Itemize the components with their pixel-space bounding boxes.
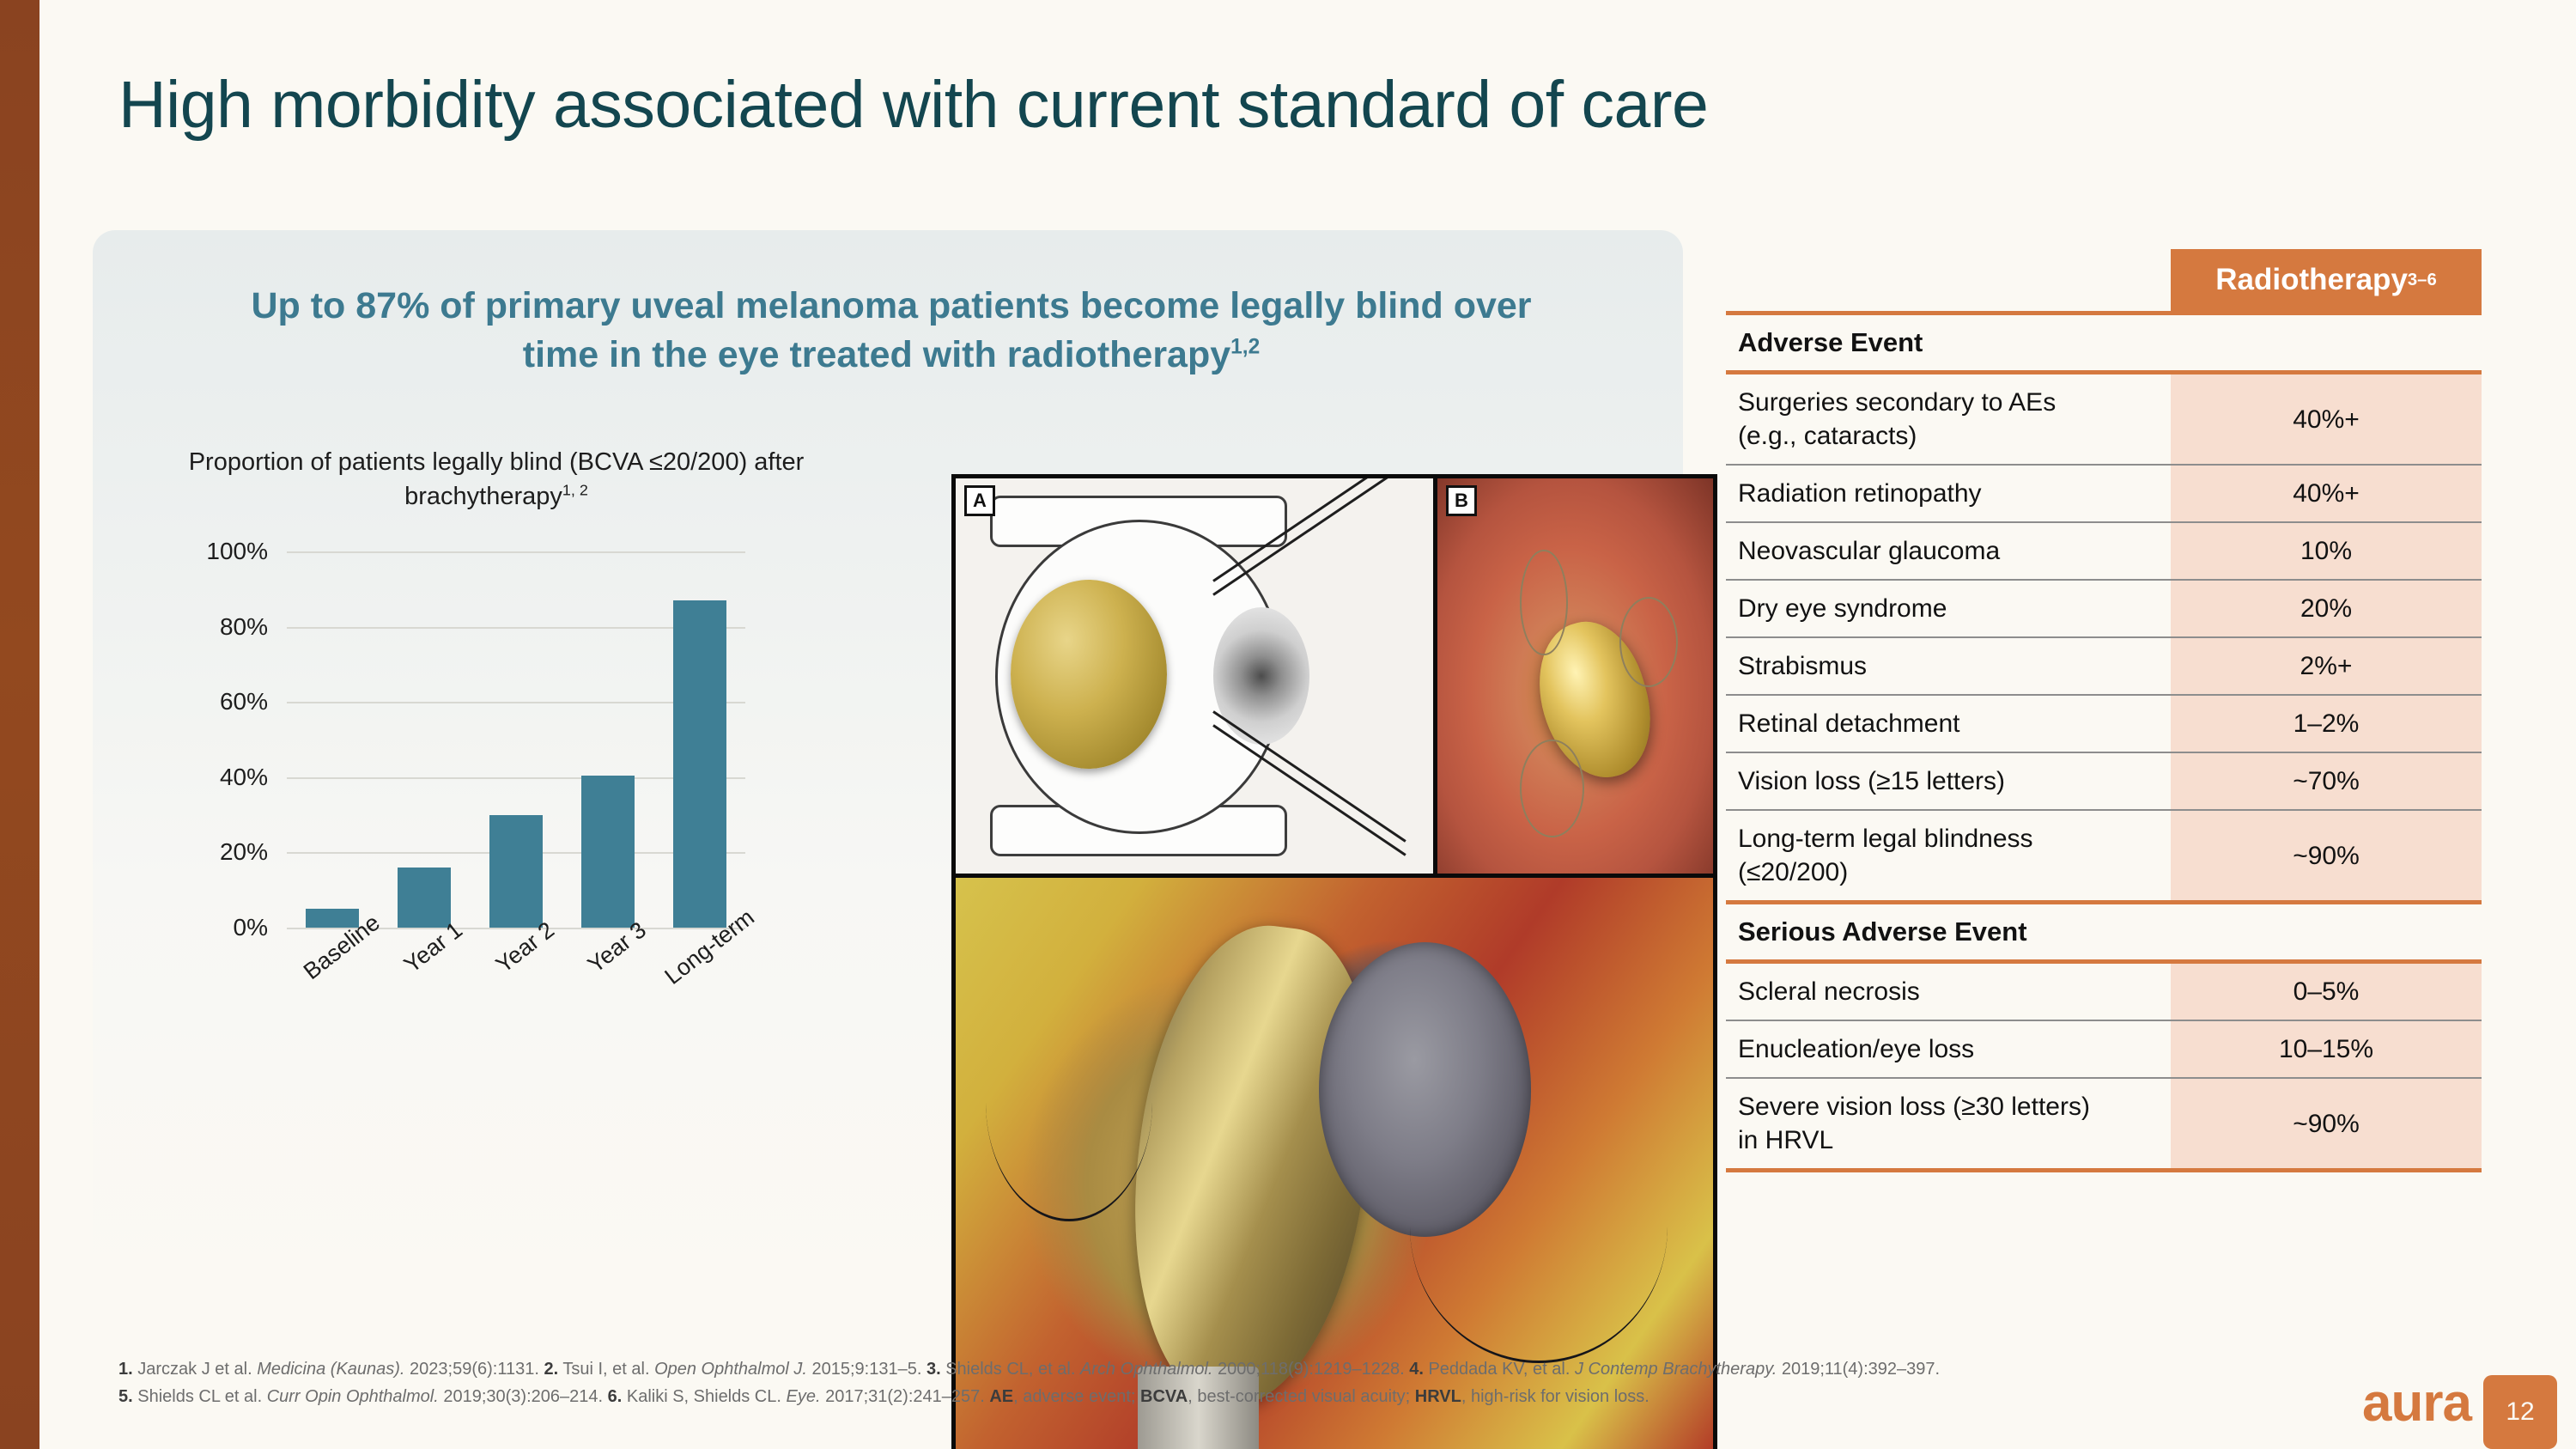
table-cell-event: Surgeries secondary to AEs(e.g., catarac… <box>1726 373 2171 466</box>
chart-ytick-label: 20% <box>220 838 268 866</box>
chart-title-superscript: 1, 2 <box>562 481 588 498</box>
slide-canvas: High morbidity associated with current s… <box>0 0 2576 1449</box>
page-title: High morbidity associated with current s… <box>118 67 2179 143</box>
table-row: Radiation retinopathy40%+ <box>1726 465 2482 522</box>
table-row: Long-term legal blindness(≤20/200)~90% <box>1726 810 2482 903</box>
figure-top-row: A B <box>956 478 1713 874</box>
table-cell-value: 40%+ <box>2171 465 2482 522</box>
footnote-ref-number: 4. <box>1409 1360 1424 1379</box>
footnote-journal: Curr Opin Ophthalmol. <box>267 1387 439 1406</box>
table-row: Scleral necrosis0–5% <box>1726 962 2482 1021</box>
suture-icon <box>1520 550 1567 656</box>
table-cell-event: Strabismus <box>1726 637 2171 695</box>
suture-icon <box>1619 597 1678 687</box>
footnote-journal: Medicina (Kaunas). <box>257 1360 404 1379</box>
footnote-line-2: 5. Shields CL et al. Curr Opin Ophthalmo… <box>118 1383 2196 1410</box>
table-cell-event: Retinal detachment <box>1726 695 2171 752</box>
table-cell-value: ~90% <box>2171 1078 2482 1171</box>
table-row: Surgeries secondary to AEs(e.g., catarac… <box>1726 373 2482 466</box>
footnotes: 1. Jarczak J et al. Medicina (Kaunas). 2… <box>118 1355 2196 1411</box>
surgical-figure: A B <box>951 474 1717 1449</box>
table-row: Strabismus2%+ <box>1726 637 2482 695</box>
table-row: Vision loss (≥15 letters)~70% <box>1726 752 2482 810</box>
table-cell-value: 10–15% <box>2171 1020 2482 1078</box>
table-cell-value: 20% <box>2171 580 2482 637</box>
footnote-ref-number: 6. <box>608 1387 623 1406</box>
table-cell-event: Vision loss (≥15 letters) <box>1726 752 2171 810</box>
table-header-label: Radiotherapy <box>2215 263 2408 297</box>
footnote-line-1: 1. Jarczak J et al. Medicina (Kaunas). 2… <box>118 1355 2196 1383</box>
cornea-illustration <box>1213 607 1309 745</box>
table-cell-value: 10% <box>2171 522 2482 580</box>
chart-bar <box>581 776 635 928</box>
table-section-title: Serious Adverse Event <box>1726 903 2171 962</box>
footnote-ref-number: 3. <box>927 1360 941 1379</box>
panel-b-surgical-photo: B <box>1437 478 1713 874</box>
chart-ytick-label: 60% <box>220 688 268 715</box>
suture-thread-icon <box>986 983 1152 1221</box>
footnote-ref-number: HRVL <box>1415 1387 1461 1406</box>
table-bottom-rule <box>1726 1171 2482 1173</box>
table-cell-value: 1–2% <box>2171 695 2482 752</box>
table-row: Retinal detachment1–2% <box>1726 695 2482 752</box>
table-cell-value: ~70% <box>2171 752 2482 810</box>
chart-ytick-label: 0% <box>234 914 268 941</box>
page-number-badge: 12 <box>2483 1375 2557 1449</box>
chart-bar <box>489 815 543 928</box>
table-cell-event: Severe vision loss (≥30 letters)in HRVL <box>1726 1078 2171 1171</box>
footnote-ref-number: 2. <box>544 1360 558 1379</box>
footnote-ref-number: BCVA <box>1140 1387 1188 1406</box>
footnote-journal: Open Ophthalmol J. <box>654 1360 807 1379</box>
chart-ytick-label: 100% <box>206 538 268 565</box>
table-section-header: Serious Adverse Event <box>1726 903 2482 962</box>
table-cell-value: 0–5% <box>2171 962 2482 1021</box>
table-cell-event: Scleral necrosis <box>1726 962 2171 1021</box>
callout-line-1: Up to 87% of primary uveal melanoma pati… <box>251 285 1345 326</box>
footnote-ref-number: 1. <box>118 1360 133 1379</box>
table-cell-value: ~90% <box>2171 810 2482 903</box>
table-cell-event: Enucleation/eye loss <box>1726 1020 2171 1078</box>
footnote-journal: Eye. <box>787 1387 821 1406</box>
table-cell-event: Dry eye syndrome <box>1726 580 2171 637</box>
table-cell-event: Radiation retinopathy <box>1726 465 2171 522</box>
footnote-ref-number: 5. <box>118 1387 133 1406</box>
table-header-radiotherapy: Radiotherapy3–6 <box>2171 249 2482 311</box>
left-content-card: Up to 87% of primary uveal melanoma pati… <box>93 230 1683 1278</box>
callout-superscript: 1,2 <box>1230 335 1260 358</box>
chart-ytick-label: 40% <box>220 764 268 791</box>
table-section-header: Adverse Event <box>1726 314 2482 373</box>
chart-gridline: 100% <box>287 551 745 553</box>
chart-ytick-label: 80% <box>220 613 268 641</box>
chart-plot-area: 100%80%60%40%20%0%BaselineYear 1Year 2Ye… <box>287 551 745 928</box>
suture-thread-icon <box>1410 1090 1668 1363</box>
table-bottom-rule-cell <box>2171 1171 2482 1173</box>
chart-title-line-1: Proportion of patients legally blind (BC… <box>189 448 642 476</box>
table-row: Neovascular glaucoma10% <box>1726 522 2482 580</box>
callout-statement: Up to 87% of primary uveal melanoma pati… <box>230 282 1552 380</box>
chart-bar <box>398 868 451 928</box>
left-accent-bar <box>0 0 39 1449</box>
brachytherapy-plaque-illustration <box>1011 580 1167 769</box>
chart-title: Proportion of patients legally blind (BC… <box>179 445 814 514</box>
bar-chart: Proportion of patients legally blind (BC… <box>127 445 866 1244</box>
panel-a-label: A <box>964 485 995 516</box>
table-row: Severe vision loss (≥30 letters)in HRVL~… <box>1726 1078 2482 1171</box>
table-section-spacer <box>2171 903 2482 962</box>
table-body: Adverse EventSurgeries secondary to AEs(… <box>1726 311 2482 1172</box>
table-header-superscript: 3–6 <box>2408 271 2437 290</box>
table-row: Enucleation/eye loss10–15% <box>1726 1020 2482 1078</box>
footnote-ref-number: AE <box>989 1387 1013 1406</box>
table-cell-event: Neovascular glaucoma <box>1726 522 2171 580</box>
table-bottom-rule-cell <box>1726 1171 2171 1173</box>
table-cell-event: Long-term legal blindness(≤20/200) <box>1726 810 2171 903</box>
aura-logo: aura <box>2362 1377 2471 1430</box>
panel-b-label: B <box>1446 485 1477 516</box>
panel-a-illustration: A <box>956 478 1437 874</box>
suture-icon <box>1520 740 1584 837</box>
footnote-journal: Arch Ophthalmol. <box>1080 1360 1213 1379</box>
footnote-journal: J Contemp Brachytherapy. <box>1575 1360 1777 1379</box>
table-cell-value: 2%+ <box>2171 637 2482 695</box>
table-section-title: Adverse Event <box>1726 314 2171 373</box>
chart-bar <box>673 600 726 928</box>
table-section-spacer <box>2171 314 2482 373</box>
table-cell-value: 40%+ <box>2171 373 2482 466</box>
table-row: Dry eye syndrome20% <box>1726 580 2482 637</box>
